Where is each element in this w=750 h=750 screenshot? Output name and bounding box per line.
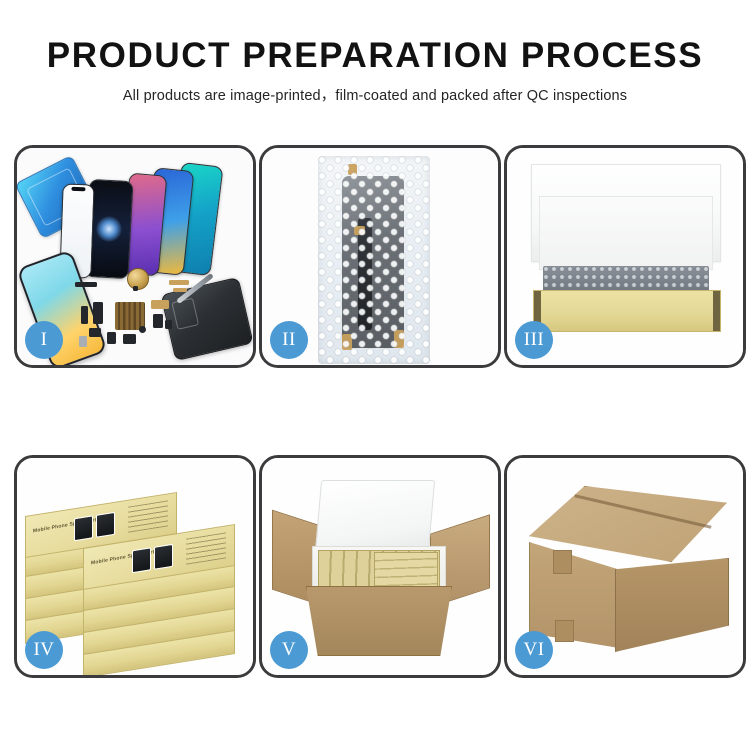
process-step-grid: I II III: [14, 145, 745, 678]
process-step-panel-1[interactable]: I: [14, 145, 256, 368]
page-subtitle: All products are image-printed，film-coat…: [0, 75, 750, 105]
spare-parts-cluster: [73, 276, 213, 358]
speaker-module-icon: [127, 268, 149, 290]
process-step-panel-2[interactable]: II: [259, 145, 501, 368]
foam-lid-open: [315, 480, 435, 552]
box-stack: Mobile Phone Spare Parts Mobile Phone Sp…: [25, 484, 247, 659]
process-step-panel-6[interactable]: VI: [504, 455, 746, 678]
step-badge-6: VI: [515, 631, 553, 669]
yellow-boxes-row-2: [374, 552, 438, 590]
step-badge-1: I: [25, 321, 63, 359]
bubble-wrap-bag: [318, 156, 430, 364]
foam-sheet: [539, 196, 713, 270]
page-header: PRODUCT PREPARATION PROCESS All products…: [0, 0, 750, 105]
step-badge-4: IV: [25, 631, 63, 669]
carton-tab-upper: [553, 550, 572, 574]
phone-fan-group: [63, 158, 243, 278]
step-badge-3: III: [515, 321, 553, 359]
process-step-panel-5[interactable]: V: [259, 455, 501, 678]
process-step-panel-4[interactable]: Mobile Phone Spare Parts Mobile Phone Sp…: [14, 455, 256, 678]
carton-body: [306, 586, 452, 656]
carton-tab-lower: [555, 620, 574, 642]
yellow-box-tray: [533, 290, 721, 332]
step-badge-5: V: [270, 631, 308, 669]
step-badge-2: II: [270, 321, 308, 359]
process-step-panel-3[interactable]: III: [504, 145, 746, 368]
page-title: PRODUCT PREPARATION PROCESS: [0, 0, 750, 75]
